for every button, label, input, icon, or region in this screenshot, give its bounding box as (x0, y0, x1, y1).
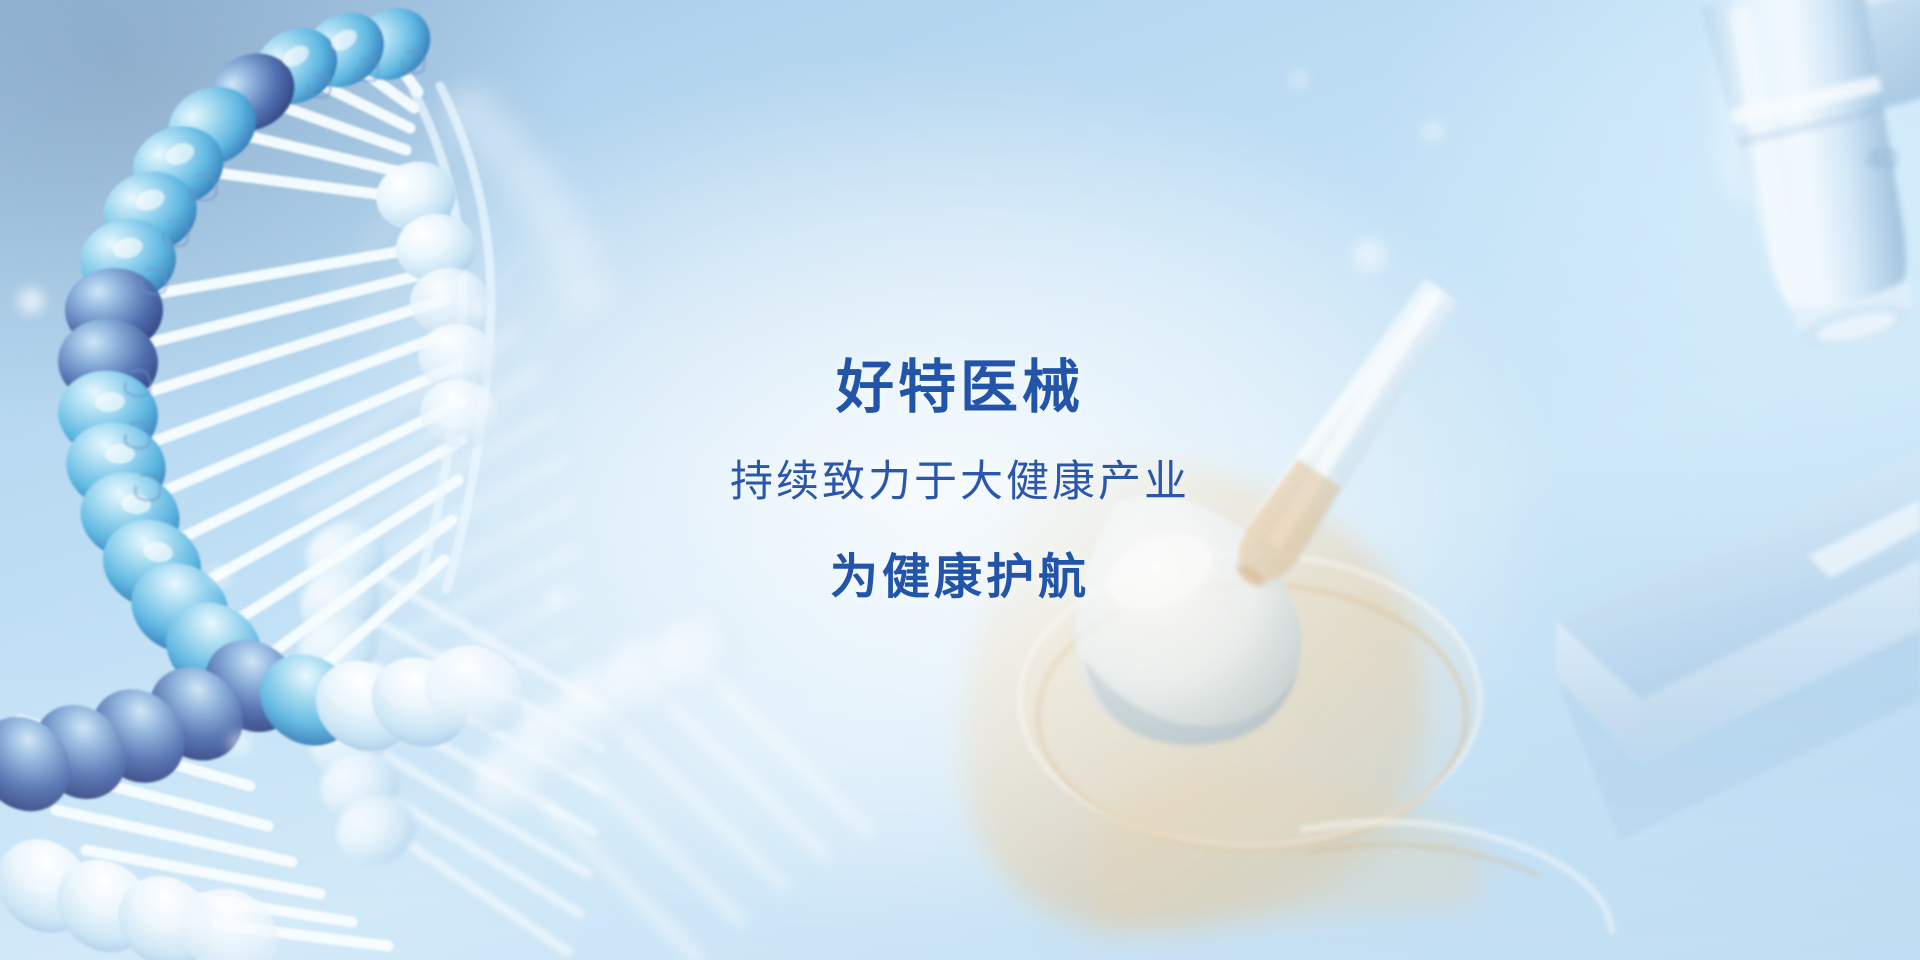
banner-headline: 好特医械 (836, 359, 1084, 417)
bokeh-dot (210, 566, 230, 586)
bokeh-dot (1290, 70, 1308, 88)
bokeh-dot (470, 300, 486, 316)
hero-banner: 40 (0, 0, 1920, 960)
bokeh-dot (546, 588, 564, 606)
banner-tagline: 为健康护航 (830, 554, 1090, 602)
bokeh-dot (228, 732, 250, 754)
bokeh-dot (1352, 238, 1386, 272)
banner-subline: 持续致力于大健康产业 (730, 461, 1190, 504)
bokeh-dot (388, 170, 402, 184)
bokeh-dot (18, 288, 44, 314)
bokeh-dot (1422, 120, 1444, 142)
